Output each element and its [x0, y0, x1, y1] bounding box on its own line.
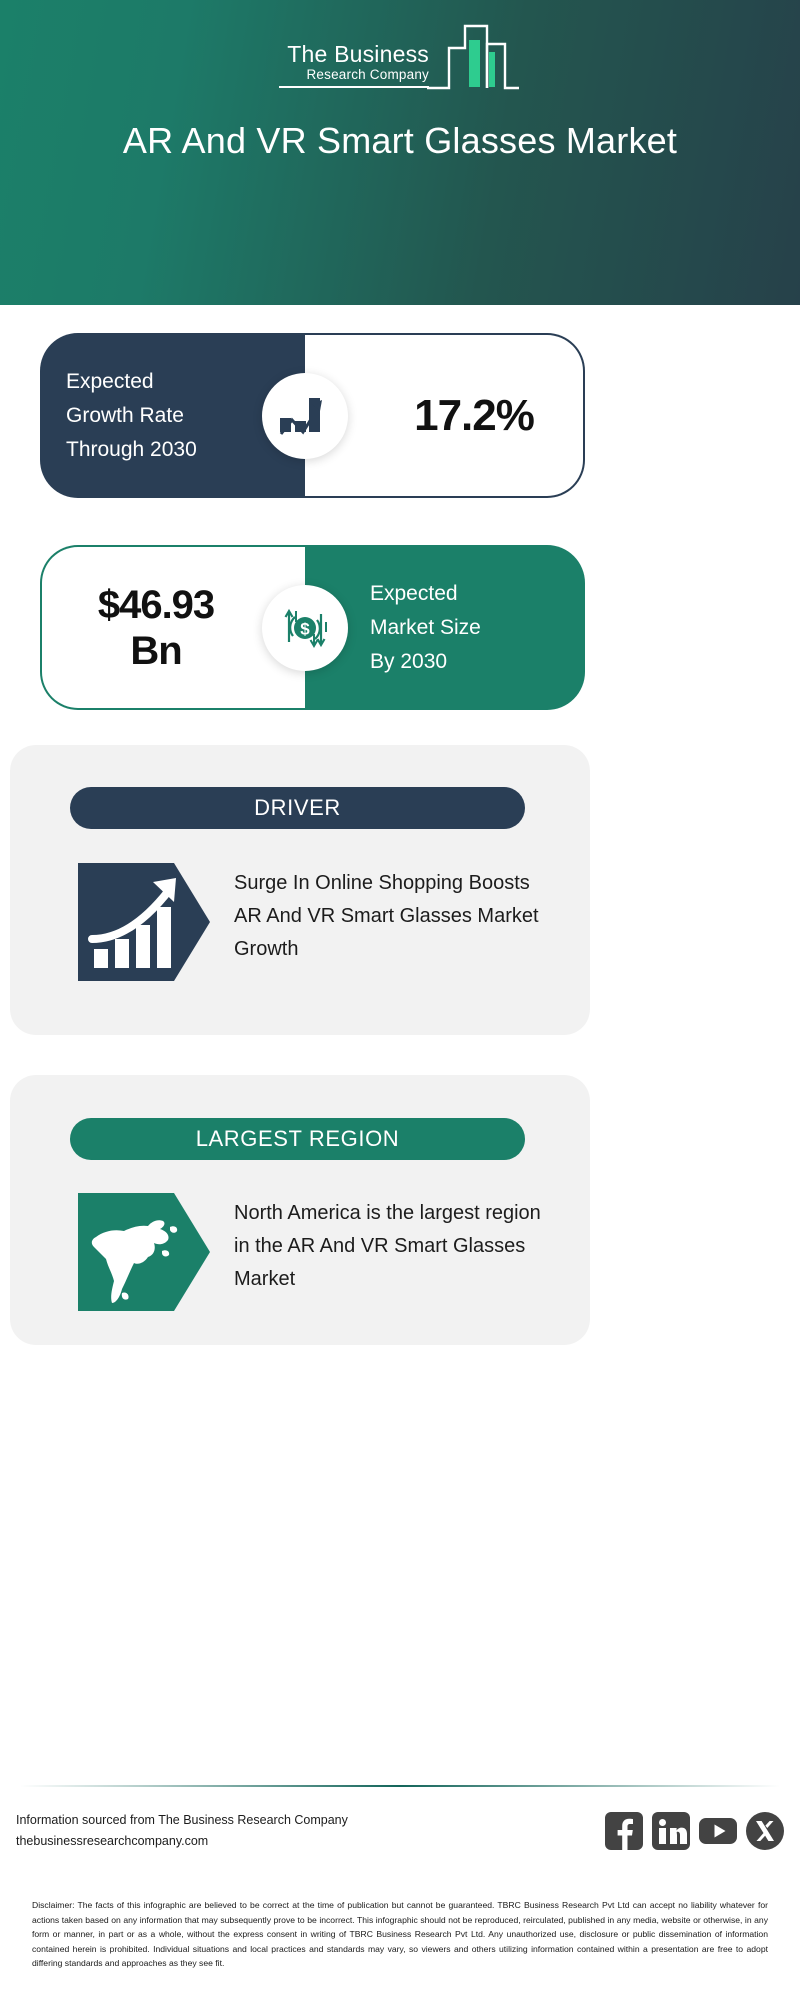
linkedin-icon[interactable] [652, 1812, 690, 1850]
growth-chart-icon [262, 373, 348, 459]
footer-source-line-2[interactable]: thebusinessresearchcompany.com [16, 1831, 348, 1852]
disclaimer-text: Disclaimer: The facts of this infographi… [32, 1898, 768, 1971]
market-size-label-line-2: Market Size [370, 611, 585, 645]
market-size-value-line-1: $46.93 [98, 582, 214, 628]
north-america-map-icon [78, 1193, 210, 1311]
largest-region-pill-label: LARGEST REGION [196, 1126, 400, 1152]
market-size-value-line-2: Bn [130, 628, 181, 674]
footer-source: Information sourced from The Business Re… [16, 1810, 348, 1852]
growth-bars-arrow-icon [78, 863, 210, 981]
svg-text:$: $ [300, 619, 310, 638]
footer-source-line-1: Information sourced from The Business Re… [16, 1810, 348, 1831]
driver-pill-label: DRIVER [254, 795, 341, 821]
bar-chart-logo-icon [425, 22, 521, 92]
x-twitter-icon[interactable] [746, 1812, 784, 1850]
driver-body: Surge In Online Shopping Boosts AR And V… [78, 863, 560, 981]
logo-line-1: The Business [287, 42, 429, 67]
expected-growth-rate-card: Expected Growth Rate Through 2030 17.2% [40, 333, 585, 498]
largest-region-panel: LARGEST REGION North America is the larg… [10, 1075, 590, 1345]
driver-text: Surge In Online Shopping Boosts AR And V… [234, 863, 560, 966]
company-logo: The Business Research Company [0, 22, 800, 92]
youtube-icon[interactable] [699, 1812, 737, 1850]
dollar-exchange-icon: $ [262, 585, 348, 671]
growth-rate-value: 17.2% [354, 391, 534, 441]
expected-market-size-card: $46.93 Bn Expected Market Size By 2030 $ [40, 545, 585, 710]
largest-region-text: North America is the largest region in t… [234, 1193, 560, 1296]
page-title: AR And VR Smart Glasses Market [60, 118, 740, 163]
driver-pill-badge: DRIVER [70, 787, 525, 829]
market-size-label-line-1: Expected [370, 577, 585, 611]
footer-row: Information sourced from The Business Re… [16, 1810, 784, 1852]
logo-underline [279, 86, 429, 88]
footer-divider [20, 1785, 780, 1787]
logo-line-2: Research Company [306, 67, 429, 83]
driver-panel: DRIVER Surge In Online Shopping Boosts A… [10, 745, 590, 1035]
largest-region-pill-badge: LARGEST REGION [70, 1118, 525, 1160]
largest-region-body: North America is the largest region in t… [78, 1193, 560, 1311]
facebook-icon[interactable] [605, 1812, 643, 1850]
market-size-label-line-3: By 2030 [370, 645, 585, 679]
logo-text: The Business Research Company [279, 42, 429, 92]
social-links [605, 1812, 784, 1850]
header-banner: The Business Research Company AR And VR … [0, 0, 800, 305]
